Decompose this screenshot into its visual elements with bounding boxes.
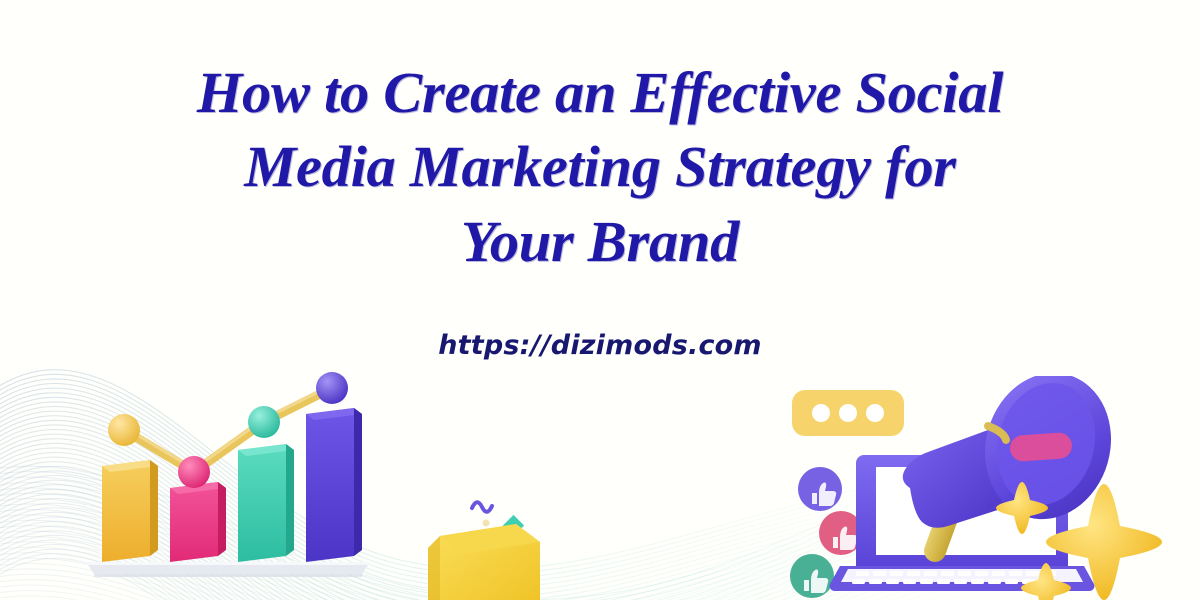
reaction-thumbs-up-purple	[798, 467, 842, 511]
confetti-dot-cream	[483, 520, 490, 527]
reaction-thumbs-up-teal	[790, 554, 834, 598]
confetti-squiggle	[472, 502, 492, 512]
chart-point-4	[316, 372, 348, 404]
chart-bar-2	[170, 482, 226, 562]
chat-bubble-dot-2	[839, 404, 857, 422]
chat-bubble	[792, 390, 904, 436]
chart-bar-4	[306, 408, 362, 562]
chart-bar-3	[238, 444, 294, 562]
chart-bar-1	[102, 460, 158, 562]
megaphone-inner	[1009, 432, 1073, 462]
chart-point-2	[178, 456, 210, 488]
chat-bubble-dot-3	[866, 404, 884, 422]
page-title-line-2: Media Marketing Strategy for	[0, 130, 1200, 204]
chart-platform	[86, 562, 370, 577]
folder-illustration	[420, 490, 610, 600]
chart-point-1	[108, 414, 140, 446]
bar-chart-illustration	[78, 366, 378, 600]
page-title: How to Create an Effective Social Media …	[0, 56, 1200, 279]
folder-body	[428, 524, 540, 600]
chat-bubble-dot-1	[812, 404, 830, 422]
page-title-line-1: How to Create an Effective Social	[0, 56, 1200, 130]
banner-canvas: How to Create an Effective Social Media …	[0, 0, 1200, 600]
social-illustration	[778, 376, 1178, 600]
site-url[interactable]: https://dizimods.com	[0, 330, 1200, 361]
chart-trend-line-highlight	[124, 385, 332, 469]
chart-point-3	[248, 406, 280, 438]
page-title-line-3: Your Brand	[0, 205, 1200, 279]
